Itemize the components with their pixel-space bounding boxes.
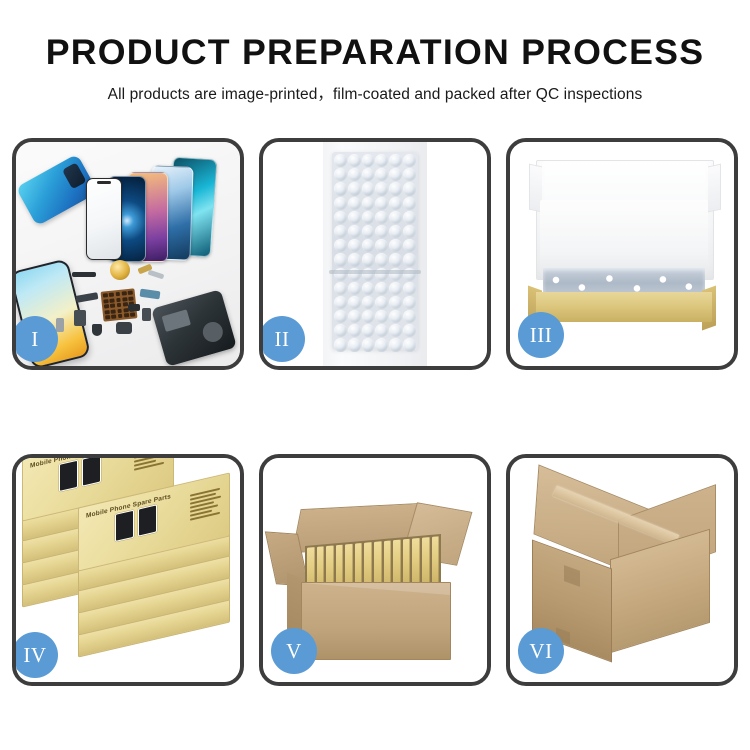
bubble-wrap-seam <box>329 270 421 274</box>
step-3-illustration: III <box>510 142 734 366</box>
foam-insert <box>540 200 708 274</box>
step-2-illustration: II <box>263 142 487 366</box>
retail-box-spec-lines-right <box>190 488 221 521</box>
process-step-panel-1: I <box>12 138 244 370</box>
carton-front-wall <box>301 582 451 660</box>
step-1-illustration: I <box>16 142 240 366</box>
screwdriver-tool-part <box>56 318 64 332</box>
retail-box-phone-art-left <box>59 458 101 492</box>
phone-screen-stack <box>78 156 238 276</box>
phone-notch <box>97 181 111 184</box>
phone-image <box>115 510 134 542</box>
flex-cable-part <box>72 272 96 277</box>
process-step-panel-4: Mobile Phone Spare Parts <box>12 454 244 686</box>
process-step-panel-6: VI <box>506 454 738 686</box>
process-step-panel-5: V <box>259 454 491 686</box>
step-5-illustration: V <box>263 458 487 682</box>
process-step-panel-2: II <box>259 138 491 370</box>
kraft-box-front-wall <box>536 292 712 322</box>
screen-protector-glass <box>86 178 122 260</box>
product-preparation-infographic: PRODUCT PREPARATION PROCESS All products… <box>0 0 750 750</box>
antenna-part <box>128 304 140 311</box>
page-subtitle: All products are image-printed，film-coat… <box>0 82 750 104</box>
step-badge-5: V <box>271 628 317 674</box>
process-step-panel-3: III <box>506 138 738 370</box>
vibrator-motor-part <box>92 324 102 336</box>
step-6-illustration: VI <box>510 458 734 682</box>
header: PRODUCT PREPARATION PROCESS All products… <box>0 0 750 104</box>
speaker-module <box>110 260 130 280</box>
phone-image <box>82 458 101 487</box>
earpiece-part <box>116 322 132 334</box>
phone-image <box>59 460 78 492</box>
step-4-illustration: Mobile Phone Spare Parts <box>16 458 240 682</box>
bubble-wrap-grid <box>332 152 418 350</box>
retail-box-spec-lines-left <box>134 458 165 470</box>
step-badge-3: III <box>518 312 564 358</box>
page-title: PRODUCT PREPARATION PROCESS <box>0 34 750 73</box>
phone-image <box>138 504 157 536</box>
sim-tray-part <box>142 308 151 321</box>
process-step-grid: I <box>12 138 738 686</box>
camera-module-part <box>74 310 86 326</box>
step-badge-6: VI <box>518 628 564 674</box>
